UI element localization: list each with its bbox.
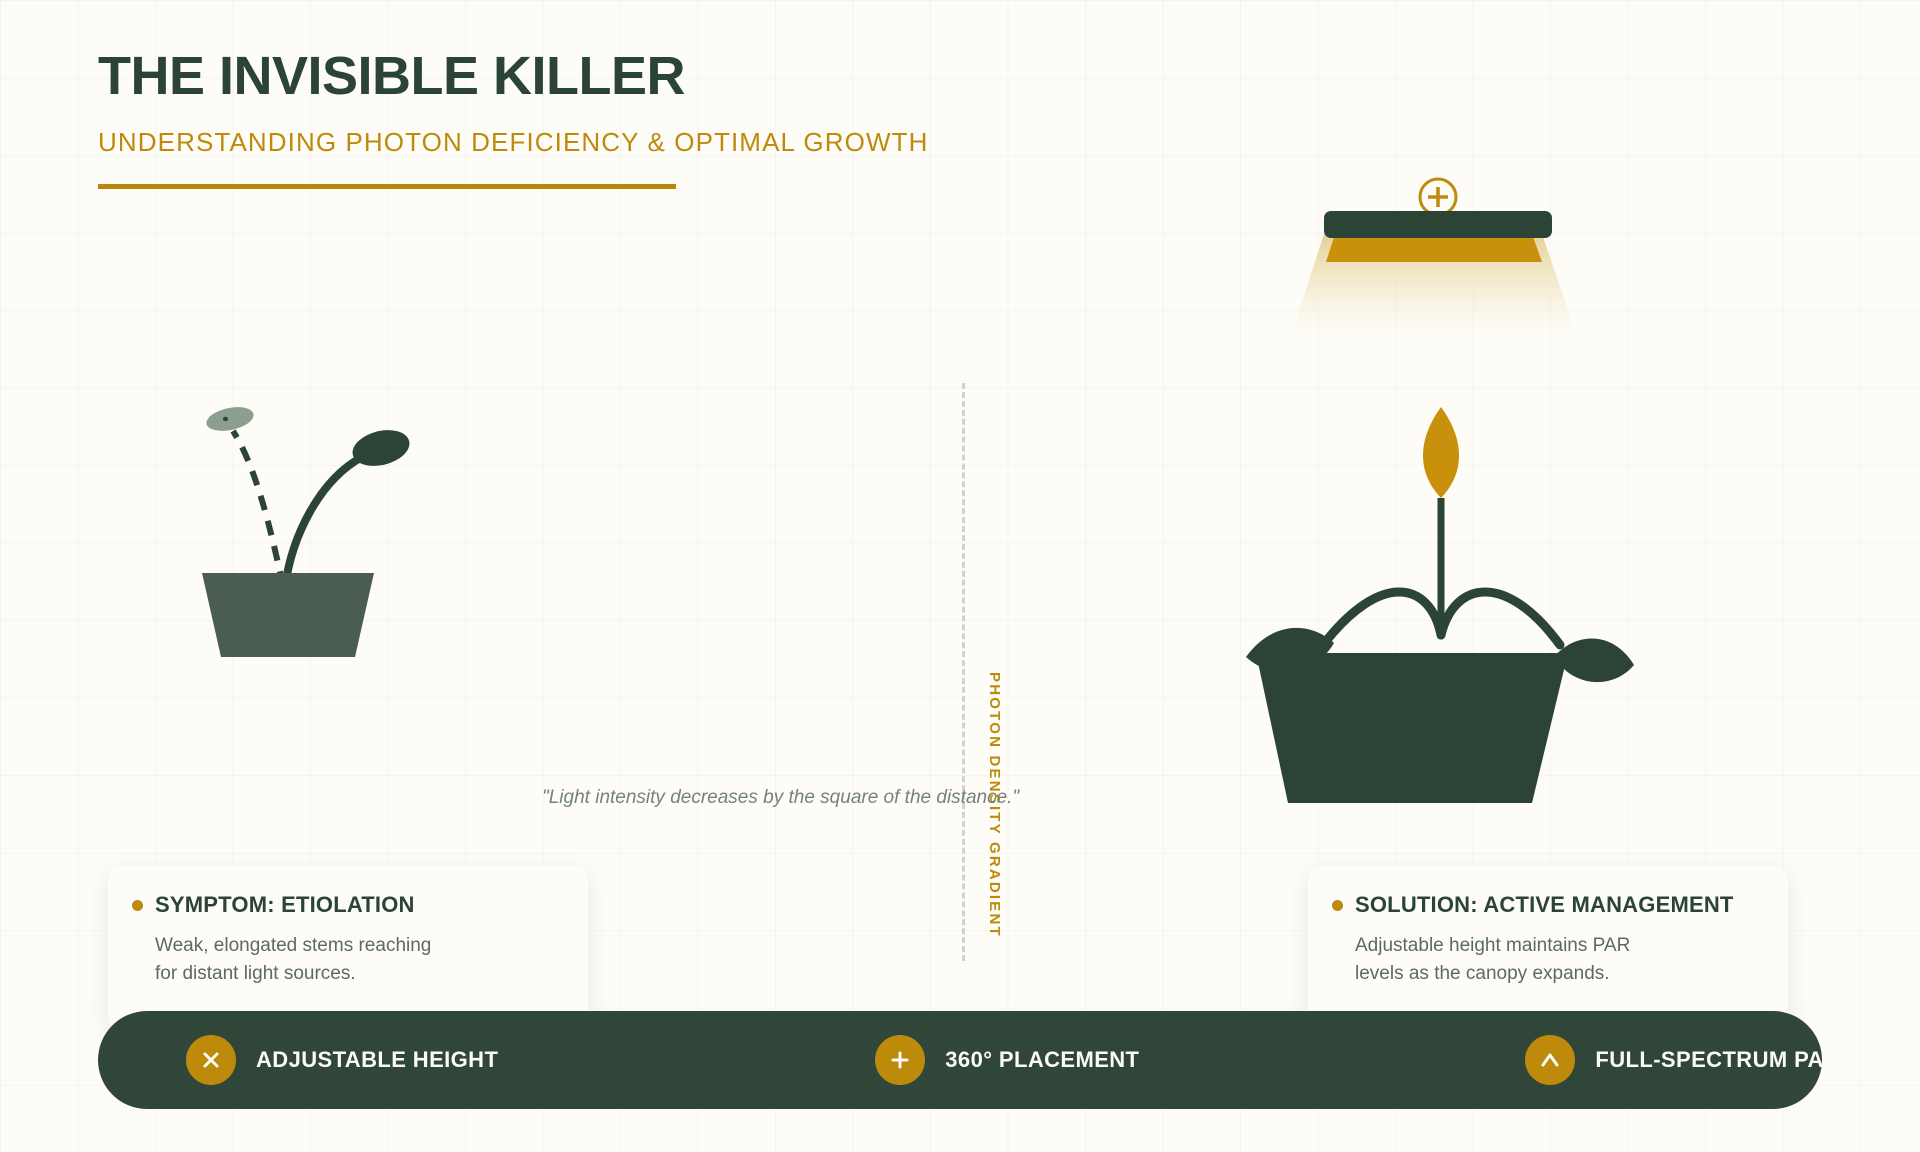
curved-stem	[285, 457, 362, 587]
bullet-dot-icon	[1332, 900, 1343, 911]
footer-item-360-placement[interactable]: 360° PLACEMENT	[875, 1035, 1139, 1085]
dashed-stem	[233, 431, 283, 586]
page-subtitle: UNDERSTANDING PHOTON DEFICIENCY & OPTIMA…	[98, 127, 928, 158]
footer-item-adjustable-height[interactable]: ADJUSTABLE HEIGHT	[186, 1035, 498, 1085]
card-header: SOLUTION: ACTIVE MANAGEMENT	[1332, 892, 1788, 918]
plus-icon	[875, 1035, 925, 1085]
left-arch-stem	[1323, 592, 1441, 645]
card-title: SYMPTOM: ETIOLATION	[155, 892, 415, 918]
symptom-card[interactable]: SYMPTOM: ETIOLATION Weak, elongated stem…	[108, 866, 588, 1031]
card-body-line: Adjustable height maintains PAR	[1355, 932, 1755, 960]
chevron-up-icon	[1525, 1035, 1575, 1085]
right-arch-stem	[1441, 592, 1560, 645]
accent-rule-divider	[98, 184, 676, 189]
plant-pot	[202, 573, 374, 657]
footer-item-label: 360° PLACEMENT	[945, 1047, 1139, 1073]
card-title: SOLUTION: ACTIVE MANAGEMENT	[1355, 892, 1734, 918]
footer-item-full-spectrum-par[interactable]: FULL-SPECTRUM PAR	[1525, 1035, 1840, 1085]
etiolated-plant-illustration	[200, 385, 530, 805]
grow-light-fixture-illustration	[1280, 165, 1580, 365]
card-body: Adjustable height maintains PAR levels a…	[1355, 932, 1755, 987]
feature-footer-bar: ADJUSTABLE HEIGHT 360° PLACEMENT FULL-SP…	[98, 1011, 1822, 1109]
card-body: Weak, elongated stems reaching for dista…	[155, 932, 555, 987]
close-x-icon	[186, 1035, 236, 1085]
solution-card[interactable]: SOLUTION: ACTIVE MANAGEMENT Adjustable h…	[1308, 866, 1788, 1031]
light-panel-gold	[1326, 234, 1542, 262]
ghost-leaf-icon	[204, 403, 256, 434]
card-header: SYMPTOM: ETIOLATION	[132, 892, 588, 918]
page-header: THE INVISIBLE KILLER UNDERSTANDING PHOTO…	[98, 48, 928, 189]
circled-plus-icon	[1420, 179, 1456, 215]
leaf-icon	[349, 424, 414, 471]
card-body-line: levels as the canopy expands.	[1355, 960, 1755, 988]
footer-item-label: ADJUSTABLE HEIGHT	[256, 1047, 498, 1073]
footer-item-label: FULL-SPECTRUM PAR	[1595, 1047, 1840, 1073]
bullet-dot-icon	[132, 900, 143, 911]
card-body-line: for distant light sources.	[155, 960, 555, 988]
plant-pot-wide	[1256, 653, 1568, 803]
card-body-line: Weak, elongated stems reaching	[155, 932, 555, 960]
page-title: THE INVISIBLE KILLER	[98, 48, 928, 105]
center-dashed-divider	[962, 383, 965, 961]
light-housing	[1324, 211, 1552, 238]
gold-leaf-icon	[1423, 407, 1459, 498]
inverse-square-quote: "Light intensity decreases by the square…	[542, 787, 1019, 809]
healthy-plant-illustration	[1230, 385, 1650, 815]
